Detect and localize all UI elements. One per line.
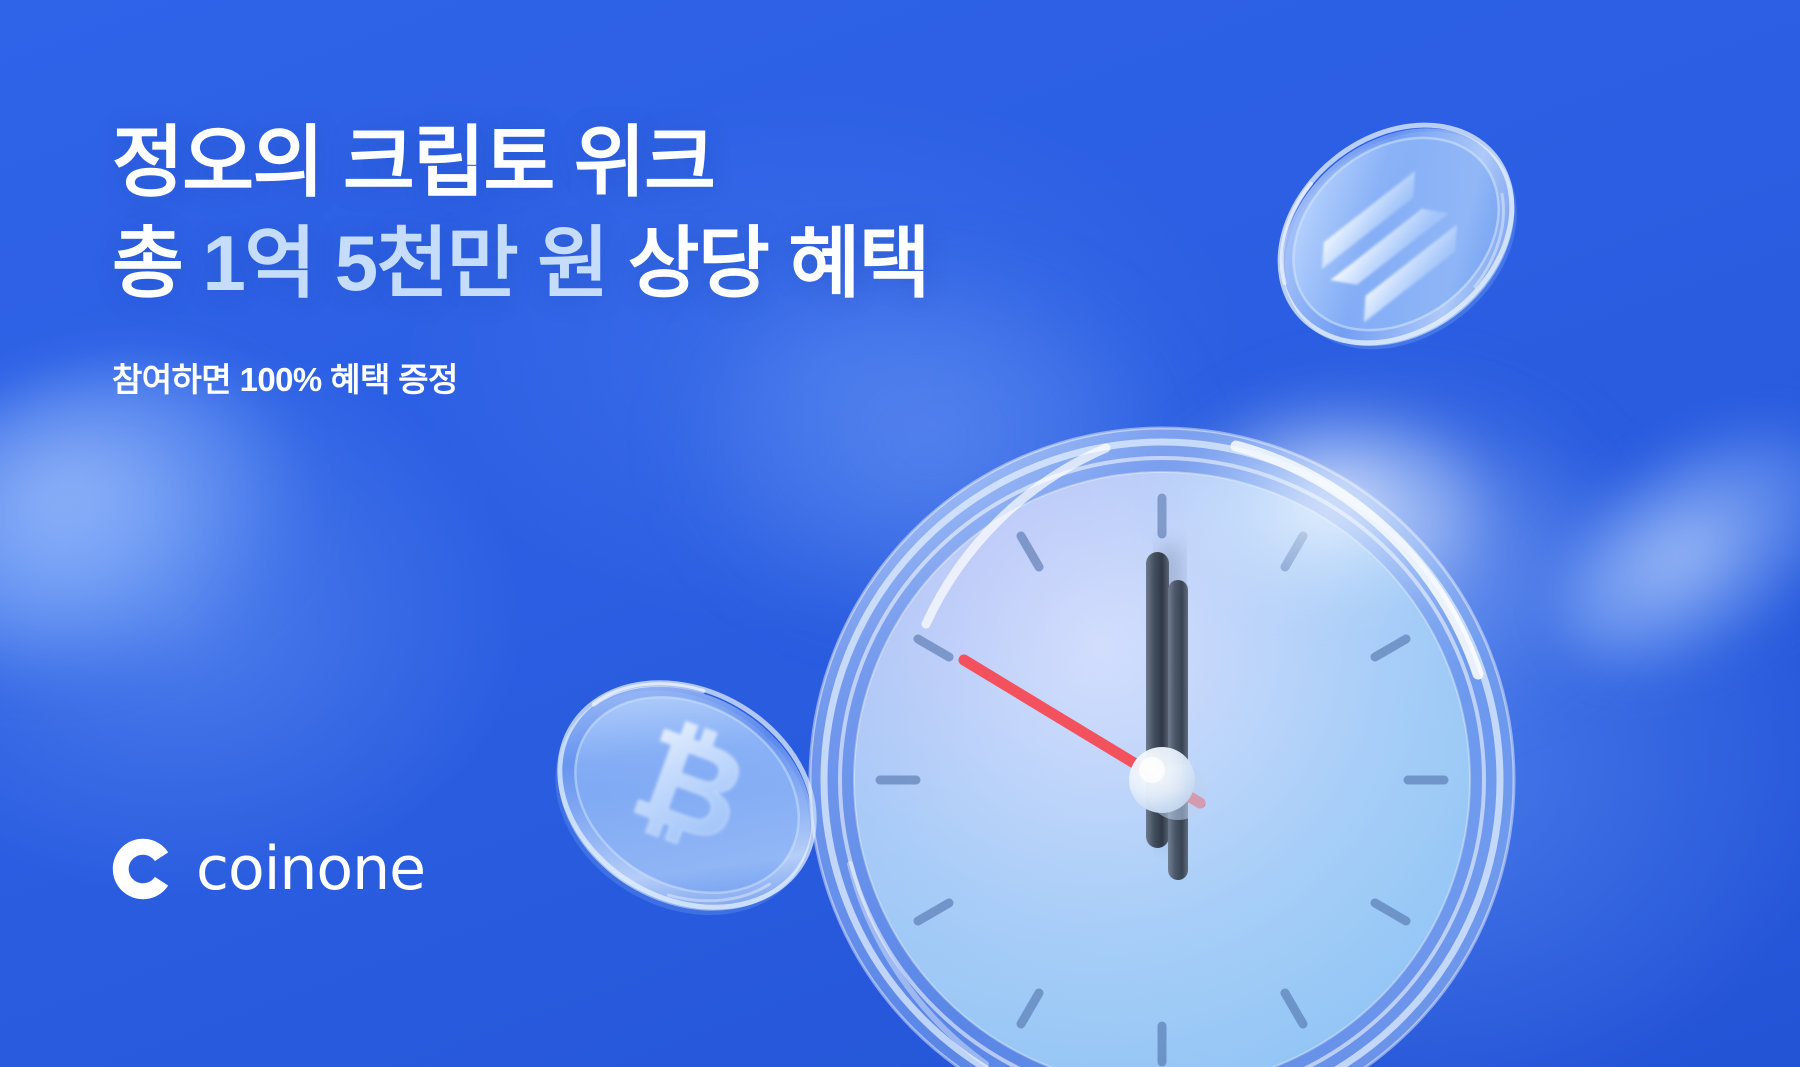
- coinone-c-mark-icon: [112, 838, 174, 900]
- headline: 정오의 크립토 위크 총 1억 5천만 원 상당 혜택: [112, 112, 929, 315]
- bitcoin-coin: ₿: [524, 635, 850, 955]
- copy-block: 정오의 크립토 위크 총 1억 5천만 원 상당 혜택 참여하면 100% 혜택…: [112, 112, 929, 401]
- subheadline: 참여하면 100% 혜택 증정: [112, 353, 929, 401]
- coinone-logo[interactable]: coinone: [112, 838, 425, 900]
- blurred-coin-left-core: [0, 435, 209, 655]
- headline-line-2-suffix: 상당 혜택: [608, 219, 929, 307]
- coinone-wordmark: coinone: [196, 839, 425, 899]
- blurred-coin-right: [1515, 376, 1800, 718]
- clock-hour-hand: [1168, 580, 1188, 880]
- headline-line-1: 정오의 크립토 위크: [112, 118, 714, 206]
- solana-coin: [1235, 79, 1556, 388]
- headline-amount: 1억 5천만 원: [202, 219, 607, 307]
- analog-clock: [806, 424, 1518, 1067]
- headline-line-2-prefix: 총: [112, 219, 202, 307]
- clock-center-cap: [1129, 747, 1195, 813]
- promo-banner: ₿: [0, 0, 1800, 1067]
